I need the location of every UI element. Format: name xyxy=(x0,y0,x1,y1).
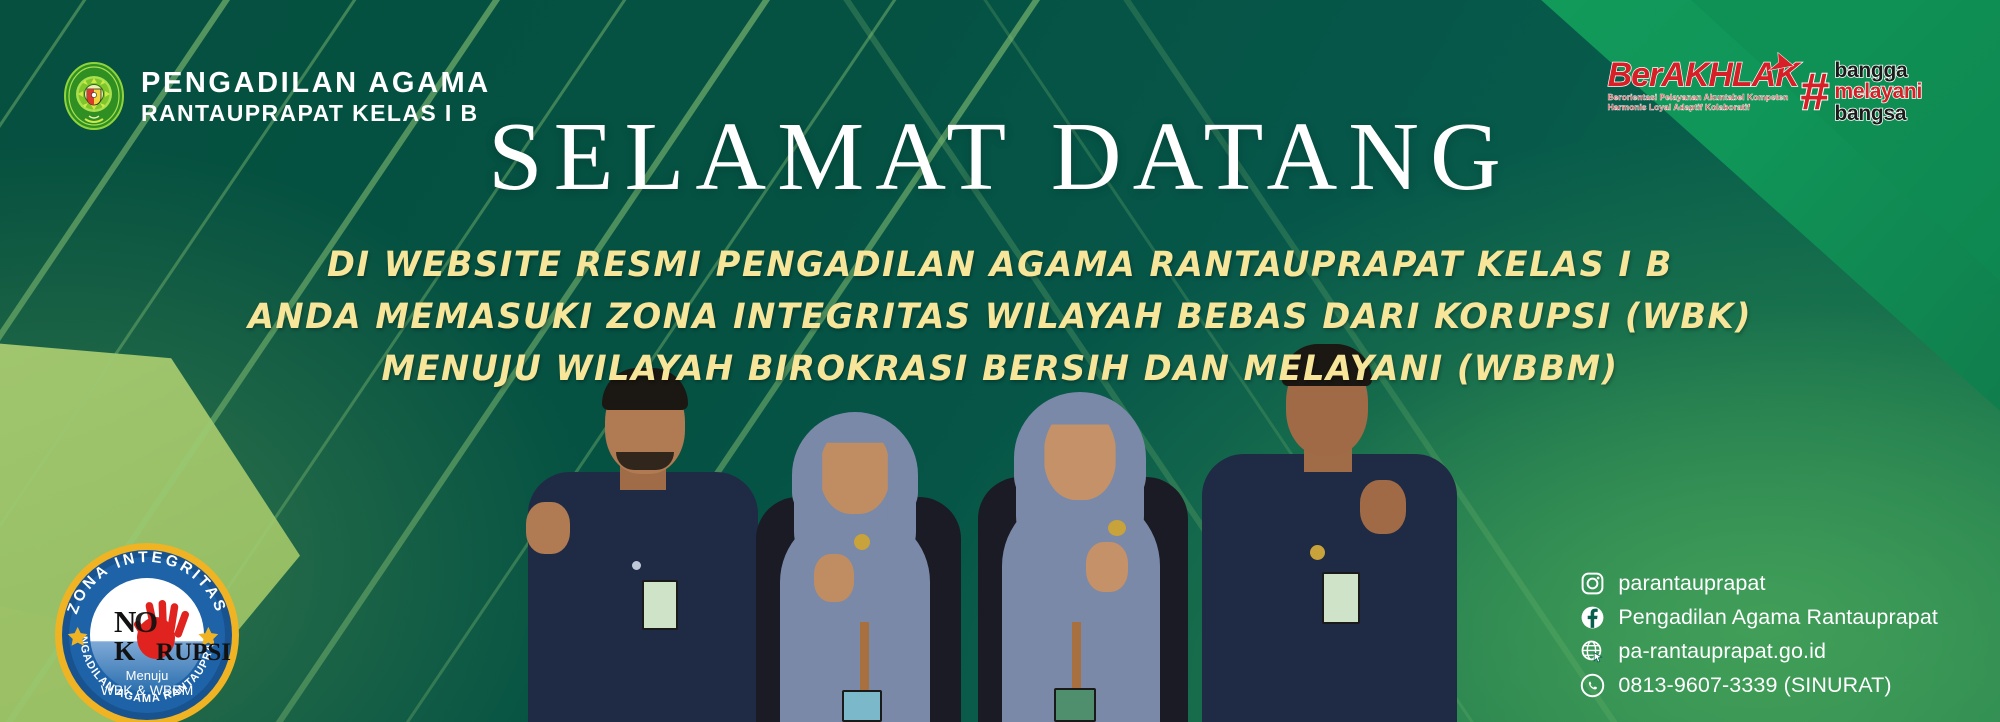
contact-text-whatsapp: 0813-9607-3339 (SINURAT) xyxy=(1618,673,1891,698)
contact-list: parantauprapat Pengadilan Agama Rantaupr… xyxy=(1580,571,1938,698)
contact-row-website[interactable]: pa-rantauprapat.go.id xyxy=(1580,639,1938,664)
court-brand: PENGADILAN AGAMA RANTAUPRAPAT KELAS I B xyxy=(63,62,491,130)
court-seal-icon xyxy=(63,62,125,130)
whatsapp-icon xyxy=(1580,673,1605,698)
bangga-line-1: bangga xyxy=(1835,60,1923,81)
badge-center-o: O xyxy=(134,604,158,639)
contact-text-facebook: Pengadilan Agama Rantauprapat xyxy=(1618,605,1938,630)
badge-sub-line-1: Menuju xyxy=(126,668,169,683)
subheadline-block: DI WEBSITE RESMI PENGADILAN AGAMA RANTAU… xyxy=(0,240,2000,395)
hash-icon: # xyxy=(1800,70,1829,114)
staff-person-2 xyxy=(742,367,972,722)
bangga-wordmark: bangga melayani bangsa xyxy=(1835,60,1923,124)
partner-logos: BerAKHLAK ➤ Berorientasi Pelayanan Akunt… xyxy=(1608,58,1922,124)
bangga-line-3: bangsa xyxy=(1835,103,1923,124)
court-title-main: PENGADILAN AGAMA xyxy=(141,69,491,98)
badge-sub-line-2: WBK & WBBM xyxy=(101,682,194,698)
facebook-icon xyxy=(1580,605,1605,630)
court-title-sub: RANTAUPRAPAT KELAS I B xyxy=(141,102,491,125)
zona-integritas-badge: ZONA INTEGRITAS PENGADILAN AGAMA RANTAUP… xyxy=(52,540,242,722)
badge-center-korupsi: RUPSI xyxy=(156,639,231,666)
contact-row-facebook[interactable]: Pengadilan Agama Rantauprapat xyxy=(1580,605,1938,630)
subheadline-line-1: DI WEBSITE RESMI PENGADILAN AGAMA RANTAU… xyxy=(40,240,1960,292)
globe-cursor-icon xyxy=(1580,639,1605,664)
contact-text-website: pa-rantauprapat.go.id xyxy=(1618,639,1826,664)
badge-center-k: K xyxy=(114,636,135,666)
berakhlak-wordmark: BerAKHLAK ➤ xyxy=(1608,58,1778,92)
bangga-melayani-bangsa-logo: # bangga melayani bangsa xyxy=(1800,58,1922,124)
subheadline-line-3: MENUJU WILAYAH BIROKRASI BERSIH DAN MELA… xyxy=(40,344,1960,396)
berakhlak-tagline-line2: Harmonis Loyal Adaptif Kolaboratif xyxy=(1608,102,1778,112)
subheadline-line-2: ANDA MEMASUKI ZONA INTEGRITAS WILAYAH BE… xyxy=(40,292,1960,344)
berakhlak-logo: BerAKHLAK ➤ Berorientasi Pelayanan Akunt… xyxy=(1608,58,1778,113)
instagram-icon xyxy=(1580,571,1605,596)
contact-row-instagram[interactable]: parantauprapat xyxy=(1580,571,1938,596)
welcome-banner: PENGADILAN AGAMA RANTAUPRAPAT KELAS I B … xyxy=(0,0,2000,722)
bangga-line-2: melayani xyxy=(1835,81,1923,102)
contact-row-whatsapp[interactable]: 0813-9607-3339 (SINURAT) xyxy=(1580,673,1938,698)
staff-person-3 xyxy=(960,342,1205,722)
court-title-block: PENGADILAN AGAMA RANTAUPRAPAT KELAS I B xyxy=(141,67,491,125)
contact-text-instagram: parantauprapat xyxy=(1618,571,1765,596)
